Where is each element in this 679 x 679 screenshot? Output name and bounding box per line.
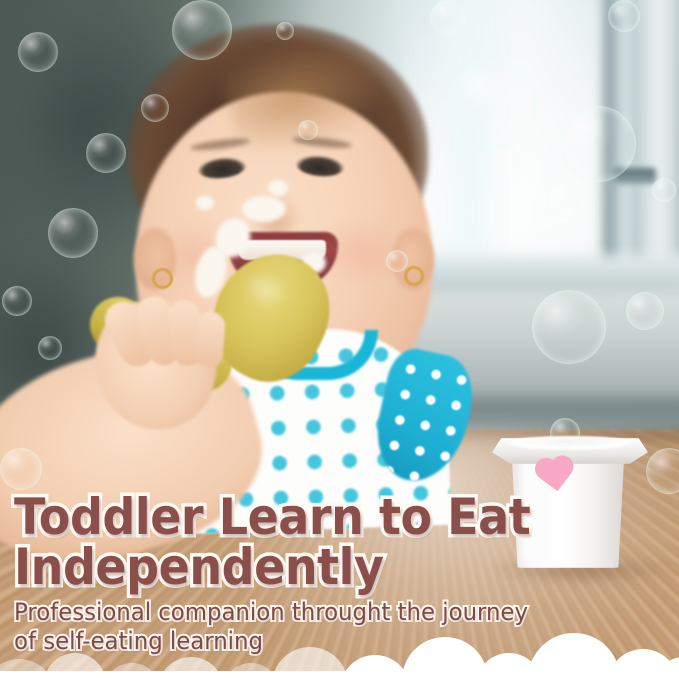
yogurt-smear: [196, 196, 214, 210]
baby-finger: [194, 311, 226, 369]
window-handle: [614, 168, 656, 184]
cup-rim-opening: [504, 436, 636, 450]
page-subtitle: Professional companion throught the jour…: [14, 598, 622, 656]
page-title: Toddler Learn to Eat Independently: [14, 492, 621, 592]
product-lifestyle-poster: Toddler Learn to Eat Independently Profe…: [0, 0, 679, 679]
yogurt-smear: [242, 196, 286, 222]
kitchen-window-pane: [404, 0, 604, 290]
earring-right: [404, 266, 424, 286]
yogurt-smear: [268, 180, 288, 196]
